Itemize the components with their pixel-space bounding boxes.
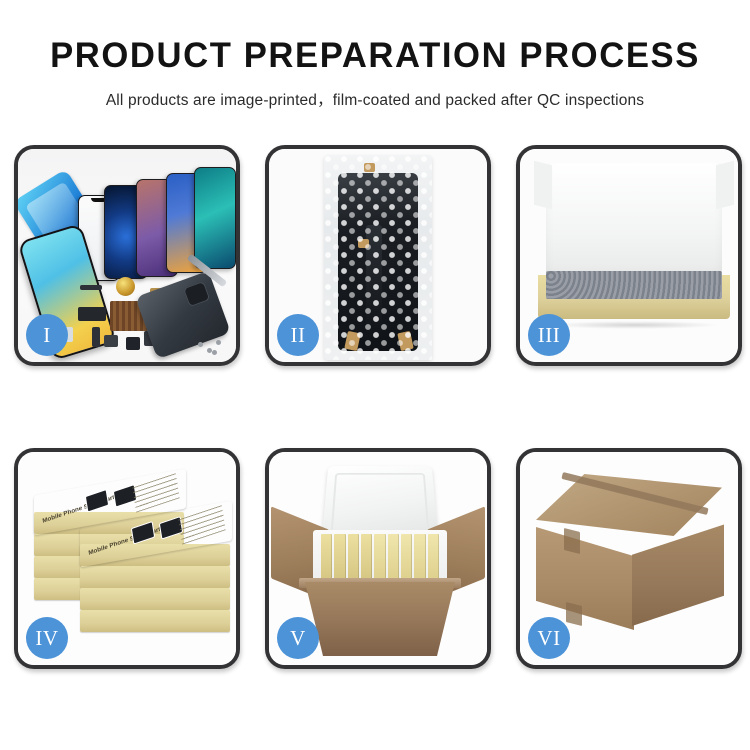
bubble-wrapped-contents-icon	[546, 271, 722, 299]
step-badge-1: I	[26, 314, 68, 356]
header: PRODUCT PREPARATION PROCESS All products…	[0, 0, 750, 110]
stacked-box-icon	[80, 566, 230, 588]
carton-side-icon	[632, 518, 724, 626]
process-step-panel-4[interactable]: Mobile Phone Spare Parts Mobile Phone Sp…	[14, 448, 240, 669]
tape-strip-icon	[564, 528, 580, 554]
box-shadow	[550, 321, 720, 329]
page-subtitle: All products are image-printed，film-coat…	[0, 88, 750, 110]
process-steps-grid: I II III	[14, 145, 742, 690]
step-badge-3: III	[528, 314, 570, 356]
process-step-panel-6[interactable]: VI	[516, 448, 742, 669]
box-lid-icon	[546, 163, 722, 281]
stacked-box-icon	[80, 588, 230, 610]
carton-body-icon	[305, 582, 455, 656]
step-badge-2: II	[277, 314, 319, 356]
step-badge-6: VI	[528, 617, 570, 659]
stacked-box-icon	[80, 610, 230, 632]
connector-icon	[78, 307, 106, 321]
camera-module-icon	[104, 335, 118, 347]
bubble-wrap-texture	[324, 155, 432, 360]
connector-icon	[92, 327, 100, 347]
printed-spec-text	[178, 505, 226, 545]
bubble-bag-icon	[324, 155, 432, 360]
printed-screen-image	[131, 521, 155, 545]
battery-part-icon	[126, 337, 140, 350]
printed-screen-image	[85, 489, 109, 513]
flex-cable-icon	[80, 285, 102, 290]
carton-front-icon	[536, 518, 634, 630]
step-badge-4: IV	[26, 617, 68, 659]
process-step-panel-3[interactable]: III	[516, 145, 742, 366]
printed-spec-text	[132, 473, 180, 513]
page-title: PRODUCT PREPARATION PROCESS	[4, 38, 747, 75]
screws-icon	[198, 340, 224, 354]
phone-icon	[194, 167, 236, 269]
process-step-panel-1[interactable]: I	[14, 145, 240, 366]
process-step-panel-5[interactable]: V	[265, 448, 491, 669]
step-badge-5: V	[277, 617, 319, 659]
speaker-coil-icon	[116, 277, 135, 296]
infographic-page: PRODUCT PREPARATION PROCESS All products…	[0, 0, 750, 750]
tape-strip-icon	[566, 602, 582, 626]
process-step-panel-2[interactable]: II	[265, 145, 491, 366]
phone-fan-group	[78, 167, 236, 277]
packed-boxes-icon	[321, 534, 439, 580]
